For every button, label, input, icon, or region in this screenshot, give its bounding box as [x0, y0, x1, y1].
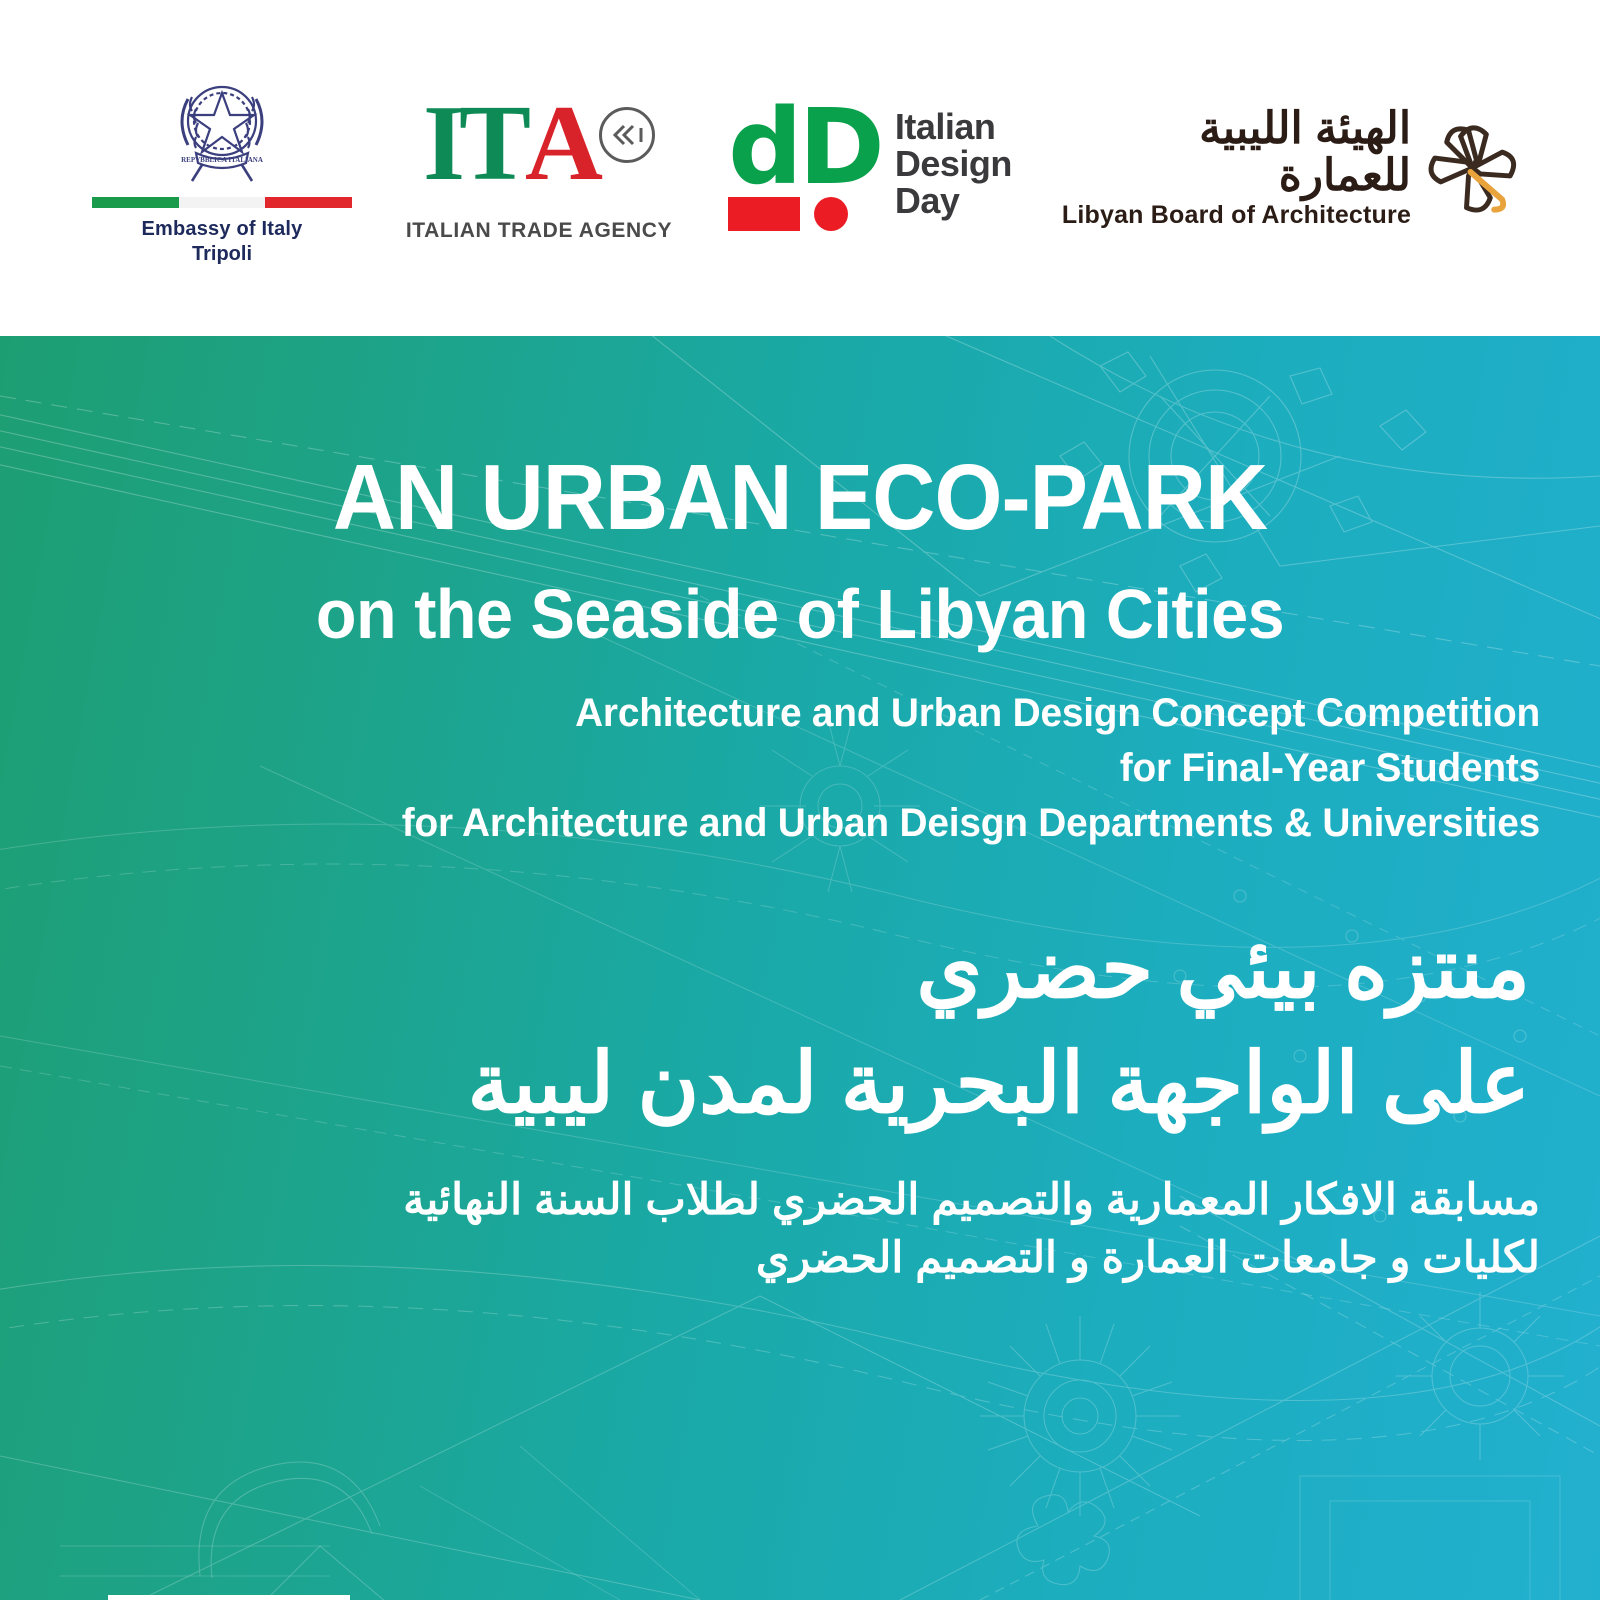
poster-body: AN URBAN ECO-PARK on the Seaside of Liby…: [0, 336, 1600, 1600]
ita-chevron-circle-icon: [599, 107, 655, 163]
svg-text:REPVBBLICA ITALIANA: REPVBBLICA ITALIANA: [181, 156, 263, 164]
poster-subtitle-line1: Architecture and Urban Design Concept Co…: [114, 691, 1540, 736]
ita-subtitle: ITALIAN TRADE AGENCY: [406, 219, 672, 243]
poster-arabic-title-line1: منتزه بيئي حضري: [50, 926, 1530, 1010]
poster-title-line1: AN URBAN ECO-PARK: [48, 451, 1552, 544]
logo-embassy-of-italy: REPVBBLICA ITALIANA Embassy of Italy Tri…: [72, 69, 372, 267]
logo-italian-trade-agency: ITA ITALIAN TRADE AGENCY: [394, 93, 684, 243]
ita-letter-a: A: [525, 93, 597, 196]
red-rectangle-icon: [728, 197, 800, 231]
italy-flag-bar-icon: [92, 197, 352, 208]
idd-monogram: dD: [728, 105, 881, 190]
ita-letter-t: T: [459, 93, 525, 196]
idd-line1: Italian: [895, 109, 1012, 146]
lba-arabic-name: الهيئة الليبية للعمارة: [1058, 106, 1411, 198]
embassy-label-line2: Tripoli: [192, 242, 252, 267]
poster-subtitle-line3: for Architecture and Urban Deisgn Depart…: [114, 801, 1540, 846]
sponsor-logo-bar: REPVBBLICA ITALIANA Embassy of Italy Tri…: [0, 0, 1600, 336]
logo-libyan-board-of-architecture: الهيئة الليبية للعمارة Libyan Board of A…: [1058, 106, 1528, 229]
idd-line2: Design: [895, 146, 1012, 183]
ita-letter-i: I: [423, 93, 459, 196]
lba-english-name: Libyan Board of Architecture: [1062, 201, 1411, 230]
poster-arabic-subtitle-line2: لكليات و جامعات العمارة و التصميم الحضري: [60, 1234, 1540, 1283]
poster-title-line2: on the Seaside of Libyan Cities: [40, 579, 1560, 649]
poster: REPVBBLICA ITALIANA Embassy of Italy Tri…: [0, 0, 1600, 1600]
pinwheel-flower-icon: [1417, 112, 1528, 224]
ita-wordmark: ITA: [423, 93, 597, 196]
red-dot-icon: [814, 197, 848, 231]
embassy-label-line1: Embassy of Italy: [141, 217, 302, 242]
idd-line3: Day: [895, 183, 1012, 220]
poster-arabic-subtitle-line1: مسابقة الافكار المعمارية والتصميم الحضري…: [60, 1176, 1540, 1225]
poster-arabic-title-line2: على الواجهة البحرية لمدن ليبية: [50, 1041, 1530, 1125]
italian-republic-emblem-icon: REPVBBLICA ITALIANA: [162, 69, 282, 187]
logo-italian-design-day: dD Italian Design Day: [710, 105, 1030, 230]
poster-subtitle-line2: for Final-Year Students: [114, 746, 1540, 791]
qr-code-icon[interactable]: [108, 1595, 350, 1600]
idd-wordmark: Italian Design Day: [895, 105, 1012, 219]
